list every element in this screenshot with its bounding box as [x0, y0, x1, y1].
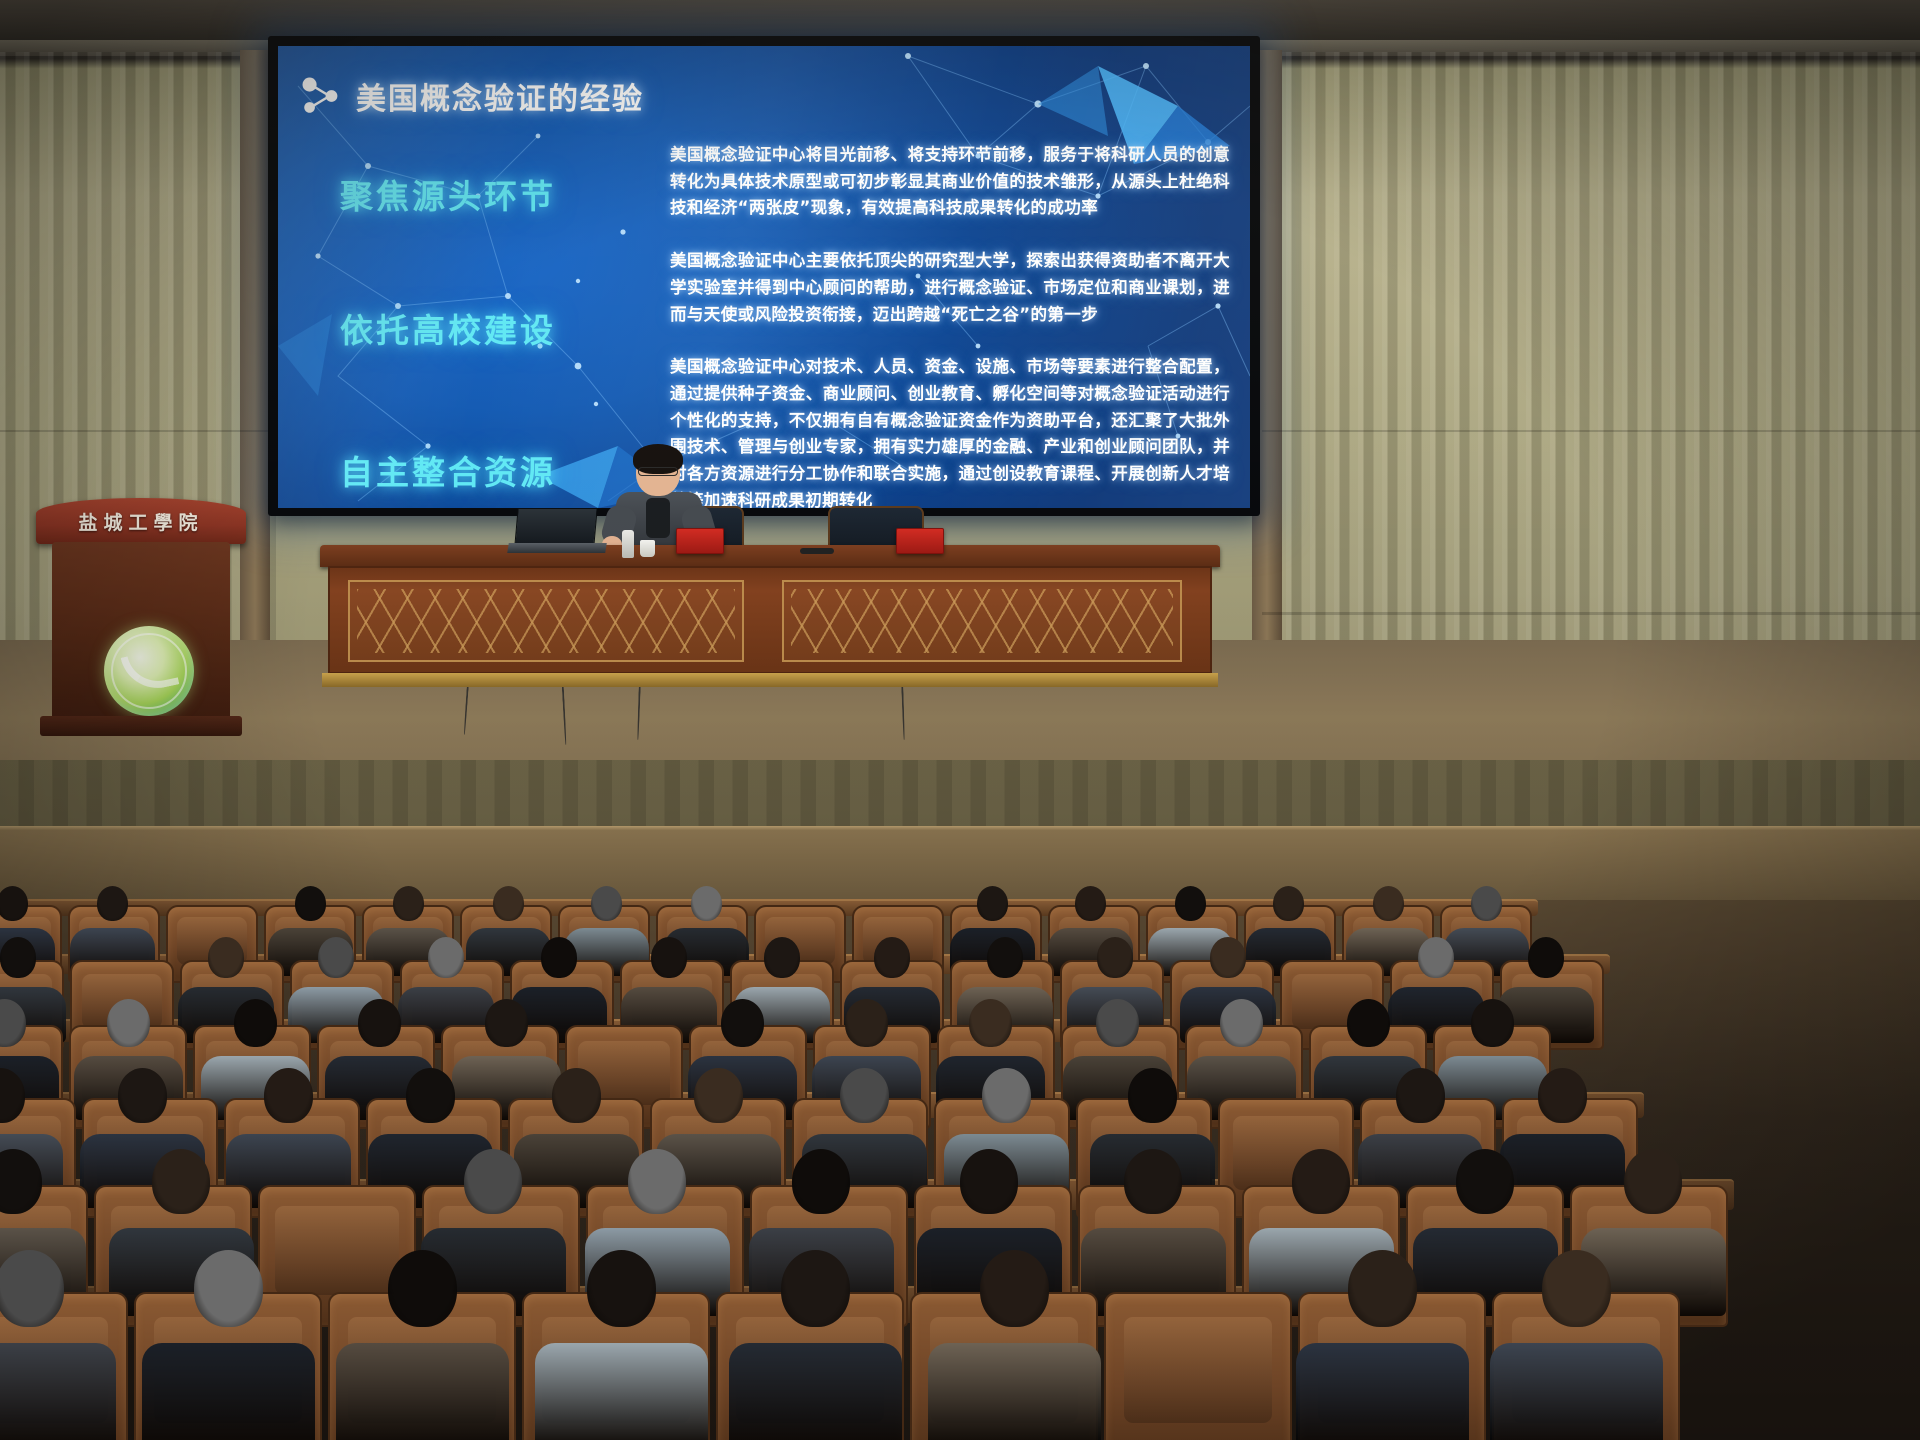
audience-member-head	[541, 937, 577, 978]
audience-member-head	[358, 999, 401, 1047]
audience-member-head	[764, 937, 800, 978]
slide-heading-column: 聚焦源头环节 依托高校建设 自主整合资源	[340, 156, 640, 494]
audience-member-head	[152, 1149, 210, 1214]
audience-member-head	[1624, 1149, 1682, 1214]
stage-skirt-panel	[0, 760, 1920, 836]
podium-sign-panel: 盐城工學院	[36, 498, 246, 544]
wall-seam-left	[0, 430, 276, 432]
audience-member-head	[208, 937, 244, 978]
podium-base	[40, 716, 242, 736]
audience-member-head	[1418, 937, 1454, 978]
podium-body	[52, 542, 230, 720]
audience-member-head	[1075, 886, 1106, 921]
name-card-left	[676, 528, 724, 554]
audience-member-head	[194, 1250, 263, 1327]
table-panel-left-pattern	[357, 589, 735, 653]
slide-heading-2: 依托高校建设	[340, 304, 640, 352]
audience-member-head	[234, 999, 277, 1047]
audience-member-head	[980, 1250, 1049, 1327]
table-front-panel	[328, 566, 1212, 674]
slide-heading-1: 聚焦源头环节	[340, 170, 640, 218]
audience-member-head	[0, 937, 36, 978]
audience-member-torso	[535, 1343, 708, 1440]
audience-member-head	[651, 937, 687, 978]
audience-member-head	[1528, 937, 1564, 978]
presenter-glasses	[638, 467, 678, 476]
wall-seam-right-lower	[1262, 612, 1920, 615]
audience-member-head	[982, 1068, 1031, 1123]
audience-member-torso	[0, 1343, 116, 1440]
audience-member-head	[406, 1068, 455, 1123]
slide-paragraph-1: 美国概念验证中心将目光前移、将支持环节前移，服务于将科研人员的创意转化为具体技术…	[670, 142, 1230, 222]
audience-member-head	[552, 1068, 601, 1123]
audience-member-head	[1292, 1149, 1350, 1214]
microphone-base	[800, 548, 834, 554]
audience-member-head	[1128, 1068, 1177, 1123]
university-emblem-icon	[104, 626, 194, 716]
audience-member-head	[493, 886, 524, 921]
lectern-podium: 盐城工學院	[36, 498, 246, 738]
audience-member-head	[587, 1250, 656, 1327]
laptop-keyboard[interactable]	[507, 543, 607, 553]
audience-member-head	[295, 886, 326, 921]
water-bottle	[622, 530, 634, 558]
audience-member-head	[977, 886, 1008, 921]
table-base-trim	[322, 673, 1218, 687]
projection-screen-frame: 美国概念验证的经验 聚焦源头环节 依托高校建设 自主整合资源 美国概念验证中心将…	[268, 36, 1260, 516]
audience-member-head	[591, 886, 622, 921]
slide-title-row: 美国概念验证的经验	[300, 74, 644, 118]
audience-member-torso	[928, 1343, 1101, 1440]
laptop-screen[interactable]	[514, 508, 597, 546]
name-card-right	[896, 528, 944, 554]
audience-member-head	[1347, 999, 1390, 1047]
audience-member-head	[960, 1149, 1018, 1214]
audience-member-torso	[336, 1343, 509, 1440]
audience-member-head	[428, 937, 464, 978]
table-panel-right-pattern	[791, 589, 1173, 653]
audience-member-head	[1273, 886, 1304, 921]
audience-member-head	[1471, 886, 1502, 921]
podium-sign-text: 盐城工學院	[78, 508, 203, 535]
auditorium-seat[interactable]	[1104, 1292, 1292, 1440]
table-panel-right	[782, 580, 1182, 662]
audience-member-head	[1456, 1149, 1514, 1214]
slide-heading-3: 自主整合资源	[340, 446, 640, 494]
audience-member-head	[1538, 1068, 1587, 1123]
audience-member-head	[721, 999, 764, 1047]
audience-member-head	[388, 1250, 457, 1327]
audience-member-head	[1124, 1149, 1182, 1214]
slide-title: 美国概念验证的经验	[356, 74, 644, 118]
audience-member-head	[1096, 999, 1139, 1047]
audience-member-head	[969, 999, 1012, 1047]
audience-member-head	[1542, 1250, 1611, 1327]
audience-member-head	[393, 886, 424, 921]
table-panel-left	[348, 580, 744, 662]
audience-member-head	[840, 1068, 889, 1123]
audience-member-head	[1373, 886, 1404, 921]
audience-member-head	[97, 886, 128, 921]
audience-member-head	[0, 1250, 64, 1327]
audience-member-head	[1210, 937, 1246, 978]
wall-seam-right	[1262, 430, 1920, 432]
audience-member-head	[0, 886, 28, 921]
slide-paragraph-column: 美国概念验证中心将目光前移、将支持环节前移，服务于将科研人员的创意转化为具体技术…	[670, 142, 1230, 508]
audience-member-head	[1097, 937, 1133, 978]
audience-member-head	[464, 1149, 522, 1214]
audience-member-head	[1348, 1250, 1417, 1327]
audience-member-torso	[729, 1343, 902, 1440]
presenter-shirt	[646, 498, 670, 538]
audience-member-head	[874, 937, 910, 978]
audience-member-torso	[1296, 1343, 1469, 1440]
audience-member-head	[987, 937, 1023, 978]
audience-member-head	[107, 999, 150, 1047]
audience-member-head	[264, 1068, 313, 1123]
audience-member-head	[118, 1068, 167, 1123]
presentation-slide: 美国概念验证的经验 聚焦源头环节 依托高校建设 自主整合资源 美国概念验证中心将…	[278, 46, 1250, 508]
audience-member-head	[318, 937, 354, 978]
audience-member-head	[485, 999, 528, 1047]
audience-member-head	[1396, 1068, 1445, 1123]
audience-member-head	[1220, 999, 1263, 1047]
audience-member-head	[792, 1149, 850, 1214]
audience-member-head	[1471, 999, 1514, 1047]
audience-member-torso	[142, 1343, 315, 1440]
network-node-icon	[300, 76, 342, 116]
audience-member-torso	[1490, 1343, 1663, 1440]
table-top-surface	[320, 545, 1220, 567]
audience-member-head	[691, 886, 722, 921]
slide-paragraph-3: 美国概念验证中心对技术、人员、资金、设施、市场等要素进行整合配置，通过提供种子资…	[670, 354, 1230, 508]
audience-member-head	[1175, 886, 1206, 921]
stage-head-table	[320, 545, 1220, 690]
audience-member-head	[628, 1149, 686, 1214]
audience-member-head	[694, 1068, 743, 1123]
slide-paragraph-2: 美国概念验证中心主要依托顶尖的研究型大学，探索出获得资助者不离开大学实验室并得到…	[670, 248, 1230, 328]
audience-member-head	[781, 1250, 850, 1327]
tea-cup	[640, 540, 655, 557]
audience-member-head	[845, 999, 888, 1047]
lecture-hall-photo: 美国概念验证的经验 聚焦源头环节 依托高校建设 自主整合资源 美国概念验证中心将…	[0, 0, 1920, 1440]
